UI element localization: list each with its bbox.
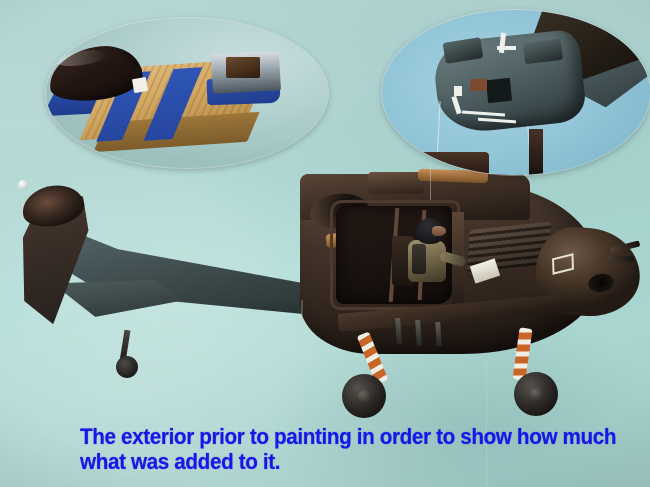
closeup-tail-gear: [529, 129, 542, 175]
wheel-hub-right: [528, 386, 544, 402]
closeup-foreground-shadow: [382, 152, 489, 175]
tail-wheel: [116, 356, 138, 378]
caption-text: The exterior prior to painting in order …: [80, 424, 606, 474]
inset-parts-on-wood-block: [46, 18, 328, 168]
nose-antenna: [608, 256, 634, 262]
rotor-mast: [368, 172, 424, 194]
gear-wheel-right: [514, 372, 558, 416]
gear-wheel-left: [342, 374, 386, 418]
photo-canvas: The exterior prior to painting in order …: [0, 0, 650, 487]
small-round-part: [131, 65, 142, 77]
pilot-face: [432, 226, 446, 236]
closeup-rust-panel: [470, 79, 486, 91]
pilot-vest: [412, 244, 426, 274]
caption-line-2: what was added to it.: [80, 449, 606, 474]
caption-line-1: The exterior prior to painting in order …: [80, 424, 606, 449]
rigging-wire-tail: [22, 196, 23, 220]
tail-navigation-light: [18, 180, 28, 190]
wheel-hub-left: [356, 388, 372, 404]
white-label: [132, 77, 148, 93]
model-helicopter: [0, 170, 650, 430]
closeup-dark-panel: [485, 78, 511, 103]
detail-part-core: [226, 57, 260, 78]
styrene-detail-2: [497, 46, 516, 49]
inset-tail-engine-closeup: [382, 10, 650, 175]
styrene-detail-6: [454, 86, 462, 96]
